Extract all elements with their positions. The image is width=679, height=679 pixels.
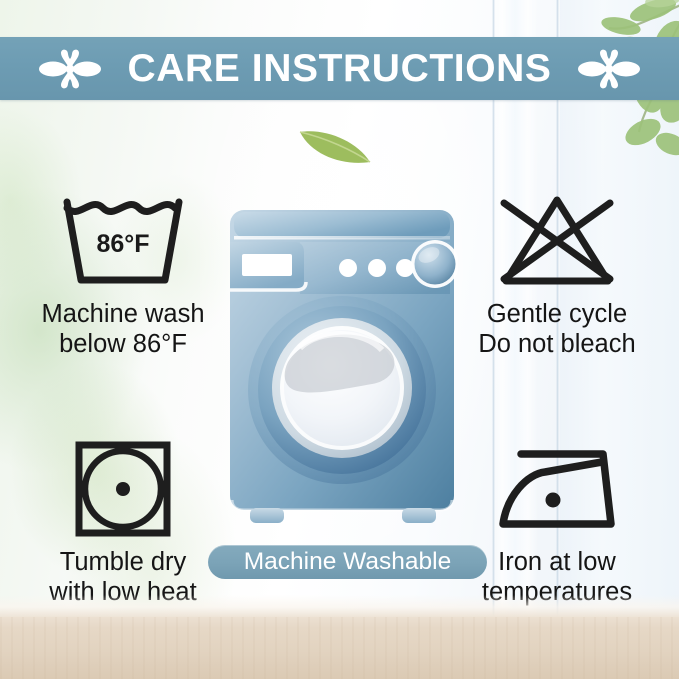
wash-temperature-value: 86°F [96, 230, 149, 258]
care-instructions-infographic: CARE INSTRUCTIONS 86°F Machine wash belo… [0, 0, 679, 679]
machine-foot [402, 508, 436, 523]
care-icon-wrapper: 86°F [59, 192, 187, 290]
wash-tub-icon: 86°F [59, 194, 187, 288]
care-item-do-not-bleach: Gentle cycle Do not bleach [452, 192, 662, 359]
care-item-tumble-dry: Tumble dry with low heat [18, 440, 228, 607]
fleur-de-lis-icon [39, 48, 101, 90]
machine-control-buttons [339, 259, 414, 277]
tumble-dry-low-icon [73, 439, 173, 539]
care-item-label: Gentle cycle Do not bleach [478, 300, 635, 359]
table-edge-highlight [0, 595, 679, 617]
care-icon-wrapper [73, 440, 173, 538]
machine-lid-seam [234, 236, 450, 240]
fleur-de-lis-icon [578, 48, 640, 90]
machine-top-lid [234, 212, 450, 238]
header-banner: CARE INSTRUCTIONS [0, 37, 679, 100]
table-surface [0, 617, 679, 679]
page-title: CARE INSTRUCTIONS [127, 49, 551, 88]
machine-button[interactable] [339, 259, 357, 277]
care-item-label: Machine wash below 86°F [42, 300, 205, 359]
care-item-iron-low: Iron at low temperatures [452, 440, 662, 607]
badge-label: Machine Washable [244, 550, 451, 575]
care-item-machine-wash: 86°F Machine wash below 86°F [18, 192, 228, 359]
do-not-bleach-triangle-icon [496, 193, 618, 289]
machine-door[interactable] [248, 296, 436, 484]
iron-low-heat-icon [495, 446, 619, 532]
care-icon-wrapper [495, 440, 619, 538]
machine-washable-badge: Machine Washable [208, 545, 487, 579]
floating-leaf-icon [296, 122, 374, 168]
washing-machine-icon [226, 204, 458, 534]
care-icon-wrapper [496, 192, 618, 290]
machine-program-knob[interactable] [411, 240, 458, 288]
machine-button[interactable] [368, 259, 386, 277]
machine-foot [250, 508, 284, 523]
machine-detergent-drawer [230, 242, 306, 290]
